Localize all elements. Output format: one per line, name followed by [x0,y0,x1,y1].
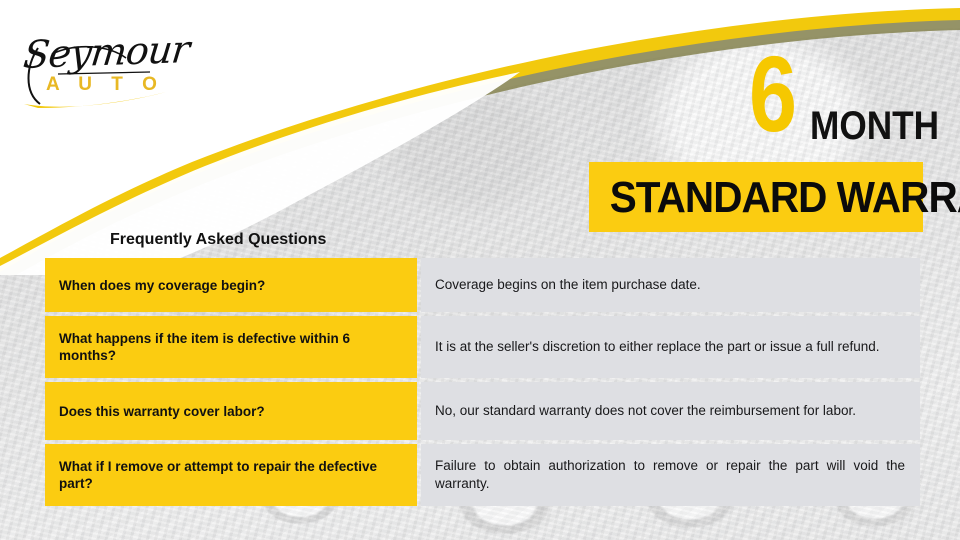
warranty-slide: Seymour A U T O 6 MONTH STANDARD WARRANT… [0,0,960,540]
seymour-auto-logo: Seymour A U T O [18,18,198,118]
logo-swoosh-icon [18,18,198,118]
table-row: When does my coverage begin? Coverage be… [45,258,920,312]
faq-answer-cell: Failure to obtain authorization to remov… [421,444,920,506]
faq-answer-cell: It is at the seller's discretion to eith… [421,316,920,378]
faq-heading: Frequently Asked Questions [110,231,326,249]
faq-question-cell: Does this warranty cover labor? [45,382,417,440]
table-row: What if I remove or attempt to repair th… [45,444,920,506]
faq-question-cell: What happens if the item is defective wi… [45,316,417,378]
faq-table: When does my coverage begin? Coverage be… [45,258,920,510]
faq-question-cell: When does my coverage begin? [45,258,417,312]
duration-number: 6 [749,44,797,144]
table-row: Does this warranty cover labor? No, our … [45,382,920,440]
faq-answer-cell: No, our standard warranty does not cover… [421,382,920,440]
duration-unit-label: MONTH [810,106,939,146]
faq-question-cell: What if I remove or attempt to repair th… [45,444,417,506]
faq-answer-cell: Coverage begins on the item purchase dat… [421,258,920,312]
standard-warranty-title: STANDARD WARRANTY [610,176,903,220]
standard-warranty-banner: STANDARD WARRANTY [589,162,923,232]
table-row: What happens if the item is defective wi… [45,316,920,378]
